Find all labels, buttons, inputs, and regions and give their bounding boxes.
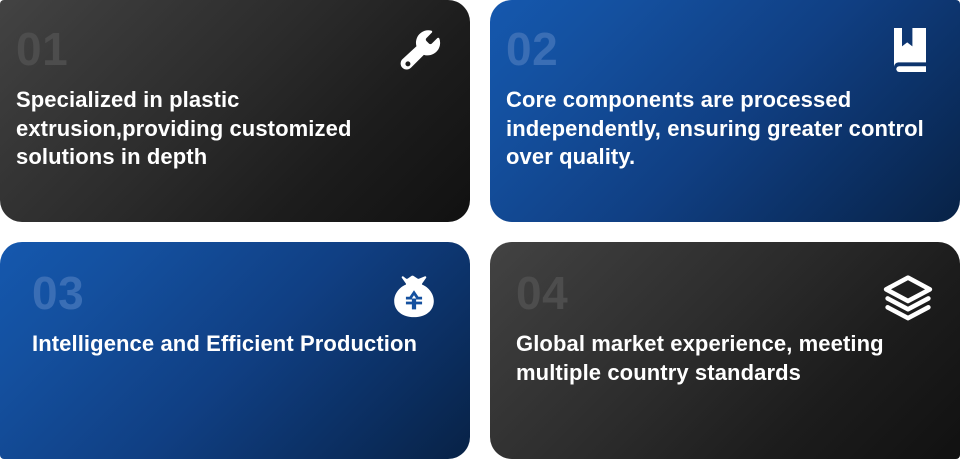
card-text-02: Core components are processed independen… xyxy=(506,86,936,172)
card-number-02: 02 xyxy=(506,26,944,72)
feature-card-02[interactable]: 02 Core components are processed indepen… xyxy=(490,0,960,222)
card-number-04: 04 xyxy=(516,270,944,316)
feature-card-grid: 01 Specialized in plastic extrusion,prov… xyxy=(0,0,960,459)
card-text-01: Specialized in plastic extrusion,providi… xyxy=(16,86,446,172)
card-number-01: 01 xyxy=(16,26,454,72)
card-number-03: 03 xyxy=(32,270,454,316)
card-text-04: Global market experience, meeting multip… xyxy=(516,330,944,387)
card-text-03: Intelligence and Efficient Production xyxy=(32,330,432,359)
feature-card-04[interactable]: 04 Global market experience, meeting mul… xyxy=(490,242,960,459)
feature-card-01[interactable]: 01 Specialized in plastic extrusion,prov… xyxy=(0,0,470,222)
feature-card-03[interactable]: 03 Intelligence and Efficient Production xyxy=(0,242,470,459)
